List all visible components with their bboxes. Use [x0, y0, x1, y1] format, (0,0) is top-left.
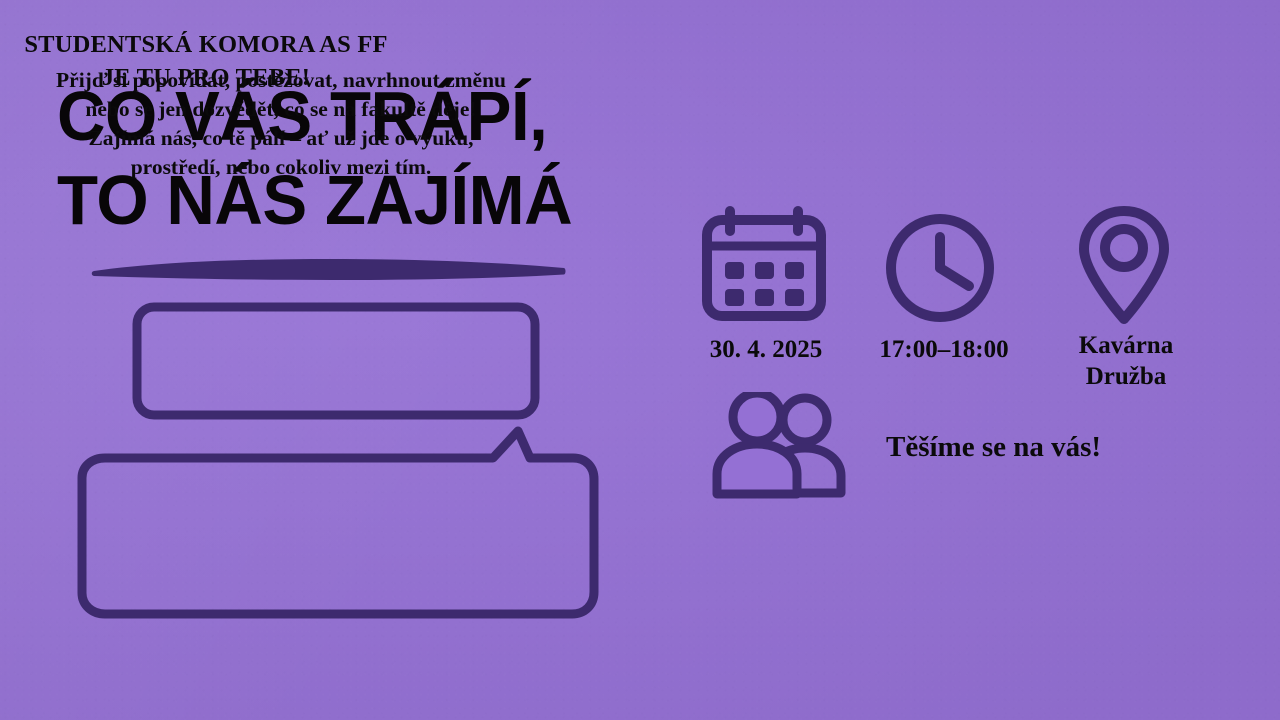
title-underline-stroke [88, 252, 570, 282]
closing-message-label: Těšíme se na vás! [886, 428, 1186, 466]
event-place-line-2: Družba [1086, 363, 1167, 390]
calendar-icon [700, 205, 828, 323]
event-date-label: 30. 4. 2025 [668, 334, 864, 365]
bubble-top-outline [137, 307, 535, 415]
event-time-label: 17:00–18:00 [846, 334, 1042, 365]
bubble-top-line-1: STUDENTSKÁ KOMORA AS FF [24, 29, 387, 60]
poster-canvas: CO VÁS TRÁPÍ, TO NÁS ZAJÍMÁ STUDENTSKÁ K… [0, 0, 1280, 720]
bubble-bottom-line-2: nebo se jen dozvědět, co se na fakultě d… [85, 95, 476, 123]
people-icon [706, 392, 858, 500]
event-place-line-1: Kavárna [1079, 332, 1173, 359]
event-place-label: Kavárna Družba [1036, 330, 1216, 392]
bubble-bottom-outline [82, 431, 594, 614]
bubble-bottom-line-4: prostředí, nebo cokoliv mezi tím. [131, 153, 432, 181]
speech-bubble-top [130, 300, 542, 422]
location-pin-icon [1072, 205, 1176, 327]
bubble-bottom-line-3: Zajímá nás, co tě pálí – ať už jde o výu… [88, 124, 473, 152]
clock-icon [882, 210, 998, 326]
speech-bubble-bottom [56, 418, 618, 630]
bubble-bottom-line-1: Přijď si popovídat, postěžovat, navrhnou… [56, 66, 506, 94]
bubble-bottom-text: Přijď si popovídat, postěžovat, navrhnou… [26, 66, 536, 181]
